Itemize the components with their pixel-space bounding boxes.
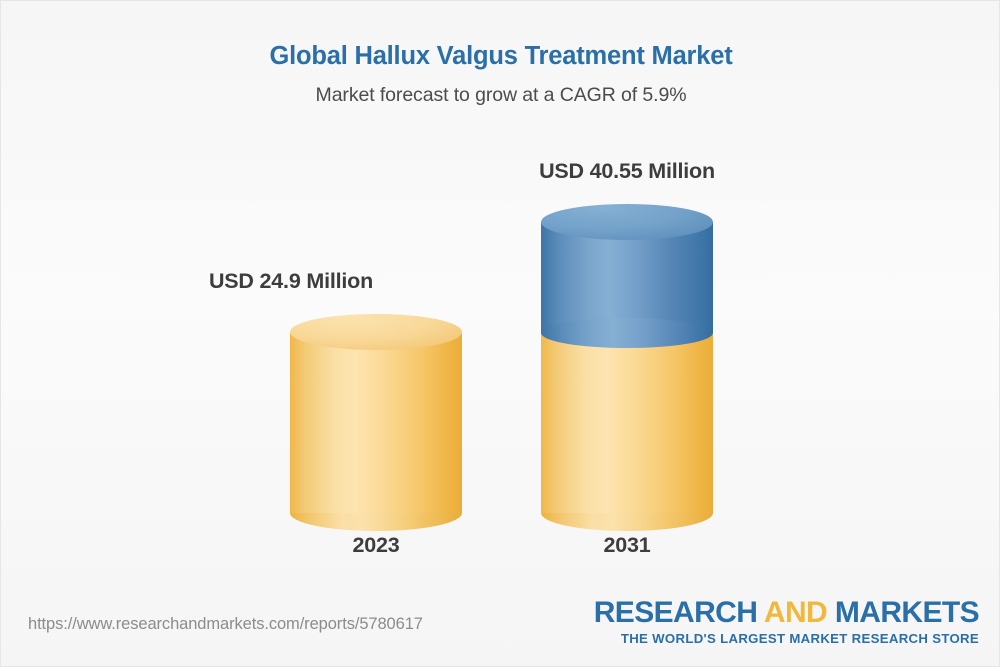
infographic-canvas: Global Hallux Valgus Treatment Market Ma… <box>0 0 1000 667</box>
cylinder-junction-2031 <box>541 318 713 348</box>
report-url-link[interactable]: https://www.researchandmarkets.com/repor… <box>28 615 423 634</box>
value-label-2031: USD 40.55 Million <box>457 159 797 184</box>
category-label-2023: 2023 <box>290 533 462 558</box>
brand-research-text: RESEARCH <box>594 596 764 629</box>
chart-plot-area: USD 24.9 Million 2023 USD 40.55 Million <box>1 1 1000 667</box>
cylinder-body-2023 <box>290 332 462 513</box>
brand-markets-text: MARKETS <box>827 596 979 629</box>
brand-and-text: AND <box>764 596 827 629</box>
brand-logo[interactable]: RESEARCH AND MARKETS THE WORLD'S LARGEST… <box>594 597 979 645</box>
brand-name: RESEARCH AND MARKETS <box>594 597 979 629</box>
cylinder-top-cap-2023 <box>290 314 462 350</box>
cylinder-body-base-2031 <box>541 333 713 513</box>
brand-tagline: THE WORLD'S LARGEST MARKET RESEARCH STOR… <box>594 629 979 646</box>
footer: https://www.researchandmarkets.com/repor… <box>1 589 1000 666</box>
category-label-2031: 2031 <box>541 533 713 558</box>
value-label-2023: USD 24.9 Million <box>121 269 461 294</box>
cylinder-top-cap-2031 <box>541 204 713 240</box>
